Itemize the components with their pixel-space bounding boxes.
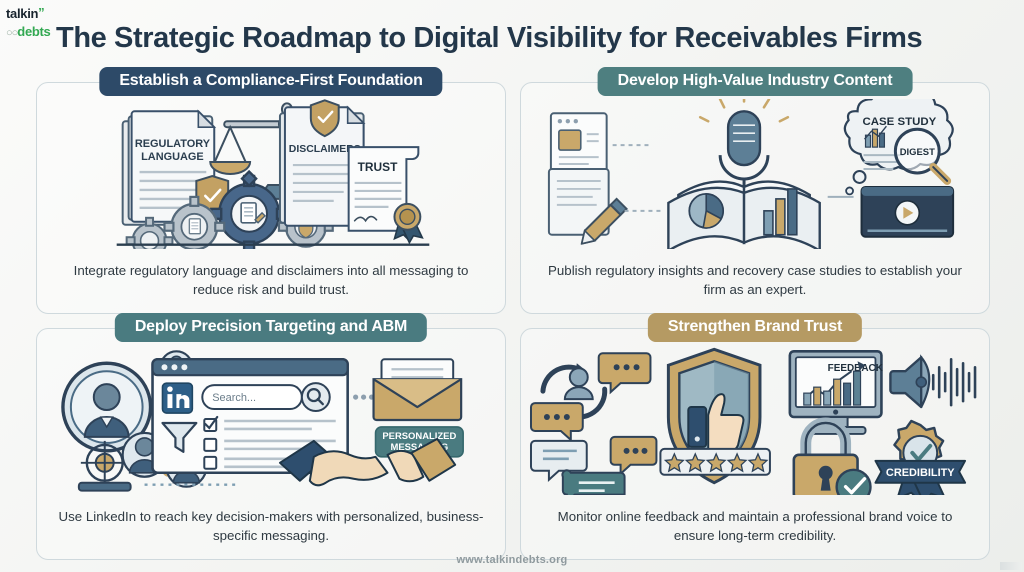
panel-compliance-first-foundation: Establish a Compliance-First Foundation …	[36, 82, 506, 314]
panel-heading-content: Develop High-Value Industry Content	[598, 67, 913, 96]
panel-caption-content: Publish regulatory insights and recovery…	[539, 261, 971, 299]
envelope-icon	[374, 359, 462, 420]
speech-bubble-icon: CASE STUDY DIGEST	[845, 99, 953, 194]
certificate-seal-icon	[394, 204, 422, 243]
search-input: Search...	[202, 385, 302, 409]
checkbox-icon	[204, 457, 216, 469]
speech-bubble-icon	[531, 403, 583, 440]
logo-dots-icon: ○○	[6, 27, 17, 39]
panel-strengthen-brand-trust: Strengthen Brand Trust	[520, 328, 990, 560]
panel-caption-compliance: Integrate regulatory language and discla…	[55, 261, 487, 299]
linkedin-icon	[162, 383, 192, 413]
logo-quote-icon: ”	[38, 5, 45, 20]
illustration-trust: FEEDBACK	[529, 345, 981, 495]
speech-bubble-icon	[599, 353, 651, 392]
speaker-icon	[890, 357, 929, 407]
microphone-icon	[700, 99, 788, 193]
doc-label-regulatory: REGULATORY	[135, 138, 211, 150]
doc-label-trust: TRUST	[358, 160, 398, 174]
sound-wave-icon	[933, 359, 975, 405]
search-placeholder-text: Search...	[212, 392, 256, 404]
certificate-icon: TRUST	[349, 147, 423, 243]
video-player-icon	[862, 187, 954, 237]
panel-heading-targeting: Deploy Precision Targeting and ABM	[115, 313, 427, 342]
bubble-label-case-study: CASE STUDY	[863, 116, 937, 128]
logo-line1: talkin	[6, 6, 38, 21]
speech-bubble-icon	[562, 470, 624, 495]
corner-decoration	[1000, 562, 1022, 570]
doc-label-language: LANGUAGE	[141, 151, 204, 163]
award-badge-icon: CREDIBILITY	[875, 421, 965, 495]
illustration-content: CASE STUDY DIGEST	[529, 99, 981, 249]
open-book-icon	[668, 182, 819, 249]
panel-precision-targeting-abm: Deploy Precision Targeting and ABM	[36, 328, 506, 560]
avatar-icon	[565, 368, 593, 399]
pie-chart-icon	[689, 194, 723, 228]
speech-bubble-icon	[611, 437, 657, 474]
search-button	[302, 383, 330, 411]
logo-line2: debts	[17, 24, 50, 39]
handshake-icon	[280, 439, 455, 485]
footer-url[interactable]: www.talkindebts.org	[0, 554, 1024, 566]
document-icon	[551, 113, 607, 175]
panel-caption-trust: Monitor online feedback and maintain a p…	[539, 507, 971, 545]
illustration-targeting: Search...	[45, 345, 497, 495]
checkbox-icon	[204, 417, 217, 431]
illustration-compliance: REGULATORY LANGUAGE	[45, 99, 497, 249]
check-badge-icon	[837, 470, 871, 495]
panel-high-value-industry-content: Develop High-Value Industry Content	[520, 82, 990, 314]
badge-label-personalized: PERSONALIZED	[382, 431, 456, 442]
ellipsis-icon	[353, 395, 374, 400]
panel-heading-trust: Strengthen Brand Trust	[648, 313, 862, 342]
page-title: The Strategic Roadmap to Digital Visibil…	[56, 22, 986, 55]
checkbox-icon	[204, 439, 216, 451]
ribbon-label-credibility: CREDIBILITY	[886, 467, 955, 479]
bubble-label-digest: DIGEST	[900, 147, 935, 158]
rating-stars	[660, 449, 770, 475]
panel-heading-compliance: Establish a Compliance-First Foundation	[99, 67, 442, 96]
panel-caption-targeting: Use LinkedIn to reach key decision-maker…	[55, 507, 487, 545]
